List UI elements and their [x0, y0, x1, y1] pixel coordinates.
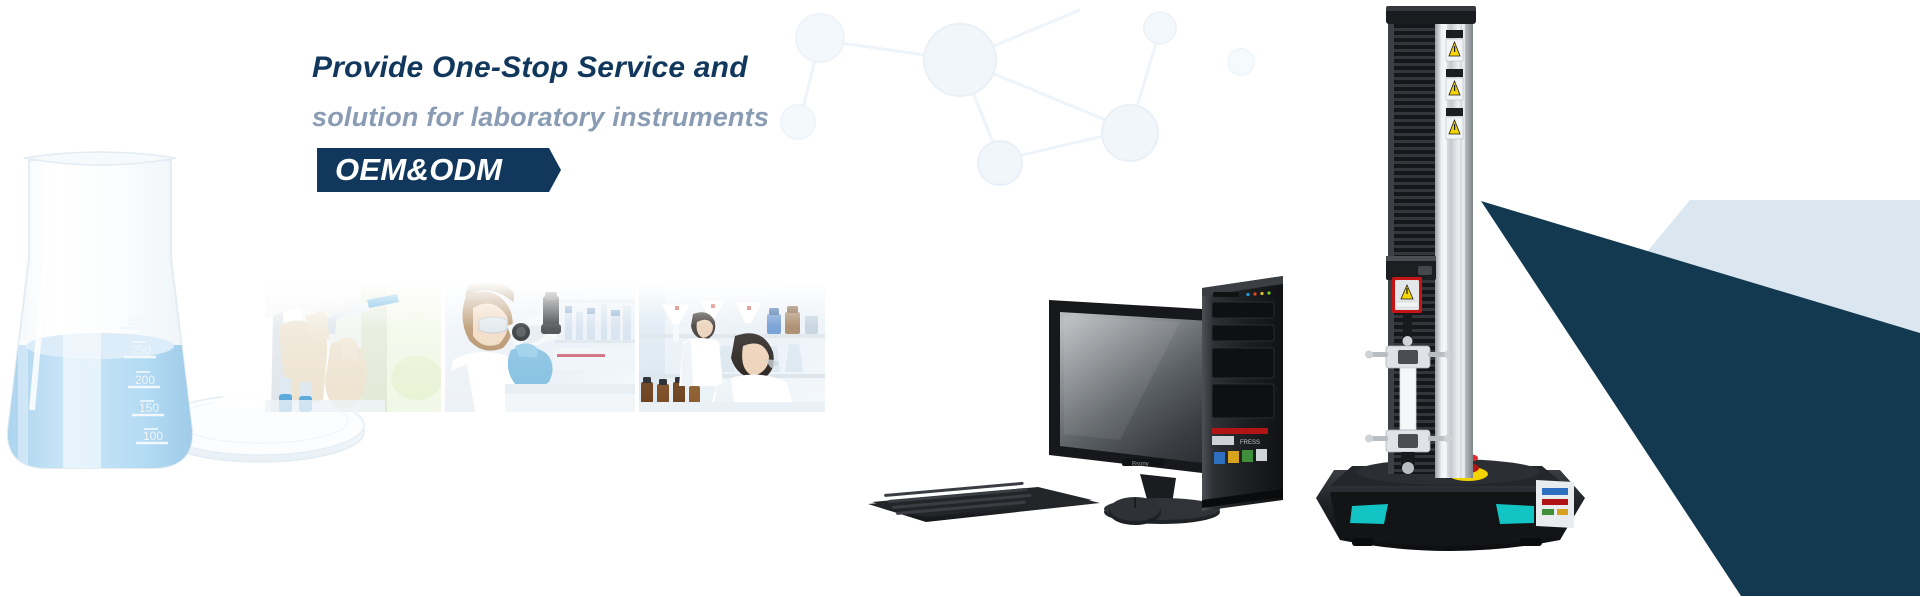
microscope-researcher-photo [445, 282, 635, 412]
machine-column [1386, 6, 1476, 478]
headline-line-2: solution for laboratory instruments [312, 103, 769, 131]
headline-line-1: Provide One-Stop Service and [312, 52, 769, 84]
warning-labels [1446, 30, 1463, 139]
test-specimen [1400, 368, 1416, 430]
headline-block: Provide One-Stop Service and solution fo… [312, 52, 769, 192]
hero-banner: 300 250 200 150 100 ml [0, 0, 1920, 597]
badge-label: OEM&ODM [335, 153, 502, 187]
laboratory-photo-strip [265, 282, 825, 412]
base-accent-left [1350, 504, 1388, 524]
load-cell [1392, 277, 1422, 313]
pipetting-test-tube-photo [265, 282, 441, 412]
control-panel [1536, 480, 1574, 528]
oem-odm-badge: OEM&ODM [317, 148, 561, 192]
base-accent-right [1496, 504, 1534, 524]
laboratory-workers-photo [639, 282, 825, 412]
